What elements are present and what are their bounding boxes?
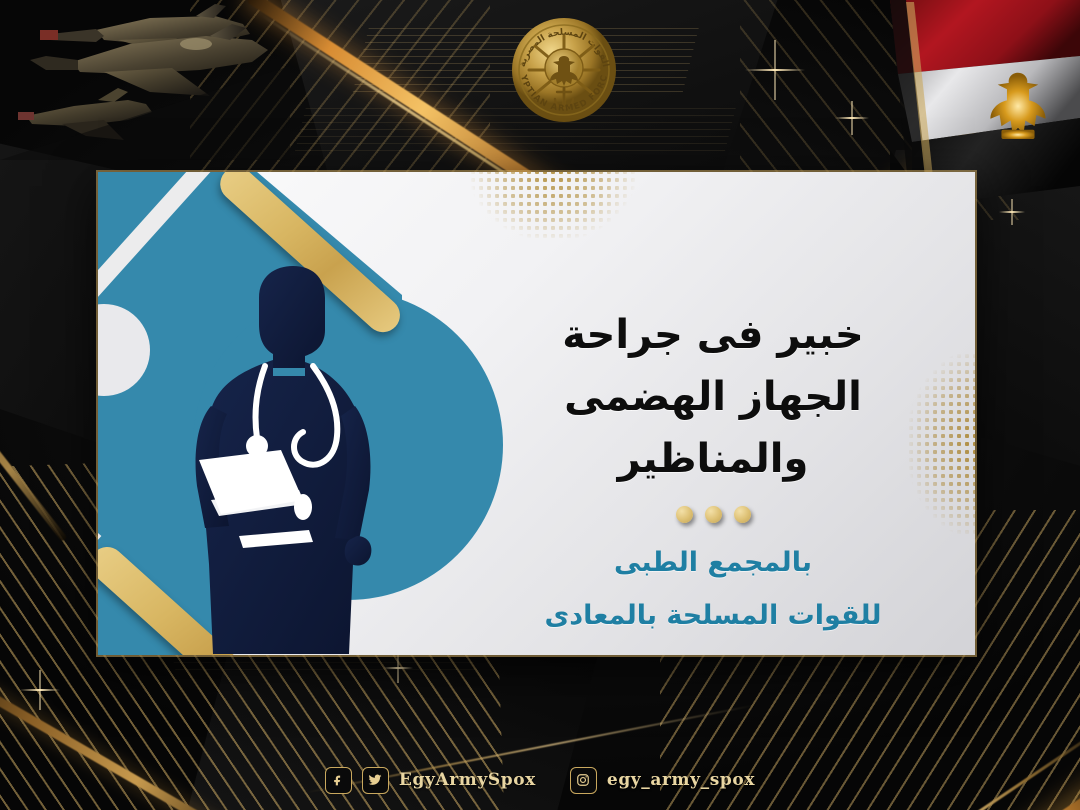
twitter-icon[interactable] [362, 767, 389, 794]
subtitle-line-1: بالمجمع الطبى [478, 537, 948, 590]
poster-root: القوات المسلحة المصرية EGYPTIAN ARME [0, 0, 1080, 810]
fighter-jets-image [0, 0, 290, 160]
separator-dot [676, 506, 693, 523]
social-handle-primary[interactable]: EgyArmySpox [399, 770, 536, 790]
halftone-pattern-top [453, 172, 653, 278]
social-footer: EgyArmySpox egy_army_spox [0, 758, 1080, 802]
card-text-block: خبير فى جراحة الجهاز الهضمى والمناظير با… [478, 304, 948, 642]
social-handle-instagram[interactable]: egy_army_spox [607, 770, 755, 790]
separator-dot [705, 506, 722, 523]
facebook-icon[interactable] [325, 767, 352, 794]
separator-dot [734, 506, 751, 523]
separator-dots [478, 506, 948, 523]
headline-line-2: الجهاز الهضمى والمناظير [478, 366, 948, 490]
instagram-icon[interactable] [570, 767, 597, 794]
headline-line-1: خبير فى جراحة [478, 304, 948, 366]
announcement-card: خبير فى جراحة الجهاز الهضمى والمناظير با… [98, 172, 975, 655]
doctor-silhouette-illustration [153, 264, 453, 655]
subtitle-line-2: للقوات المسلحة بالمعادى [478, 590, 948, 643]
armed-forces-emblem: القوات المسلحة المصرية EGYPTIAN ARME [505, 10, 623, 128]
